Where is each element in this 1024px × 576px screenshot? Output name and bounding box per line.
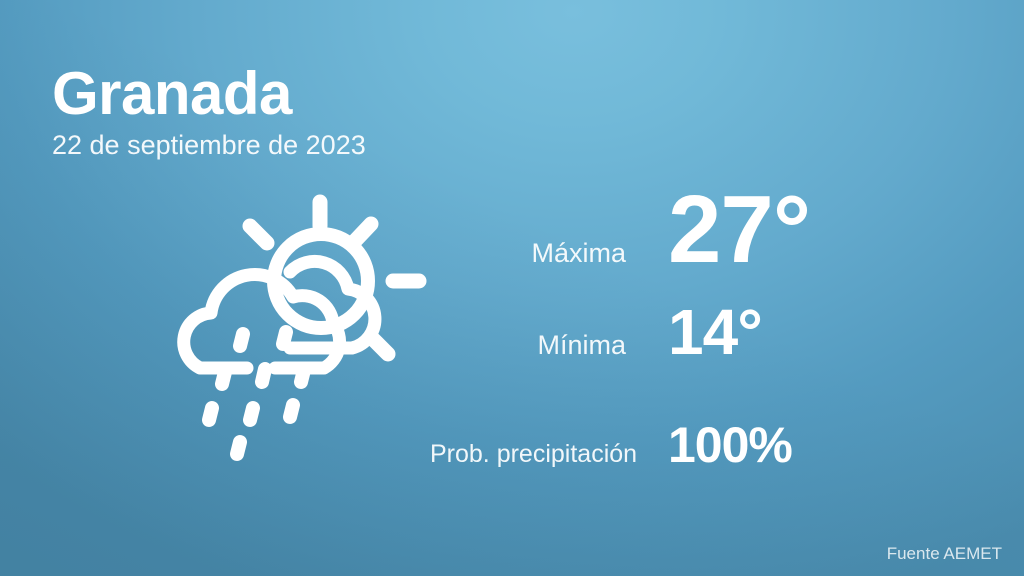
- reading-value-minima: 14°: [668, 300, 762, 364]
- forecast-date: 22 de septiembre de 2023: [52, 125, 366, 161]
- reading-label-minima: Mínima: [430, 330, 668, 361]
- header: Granada 22 de septiembre de 2023: [52, 62, 366, 161]
- readings-list: Máxima 27° Mínima 14° Prob. precipitació…: [430, 182, 950, 490]
- reading-label-precipitacion: Prob. precipitación: [430, 440, 668, 469]
- reading-label-maxima: Máxima: [430, 238, 668, 269]
- source-attribution: Fuente AEMET: [887, 544, 1002, 564]
- reading-value-precipitacion: 100%: [668, 420, 792, 470]
- reading-value-maxima: 27°: [668, 182, 810, 278]
- reading-row-maxima: Máxima 27°: [430, 182, 950, 300]
- weather-card: Granada 22 de septiembre de 2023: [0, 0, 1024, 576]
- sun-behind-rain-clouds-icon: [140, 186, 440, 486]
- reading-row-precipitacion: Prob. precipitación 100%: [430, 420, 950, 490]
- reading-row-minima: Mínima 14°: [430, 300, 950, 420]
- page-title: Granada: [52, 62, 366, 125]
